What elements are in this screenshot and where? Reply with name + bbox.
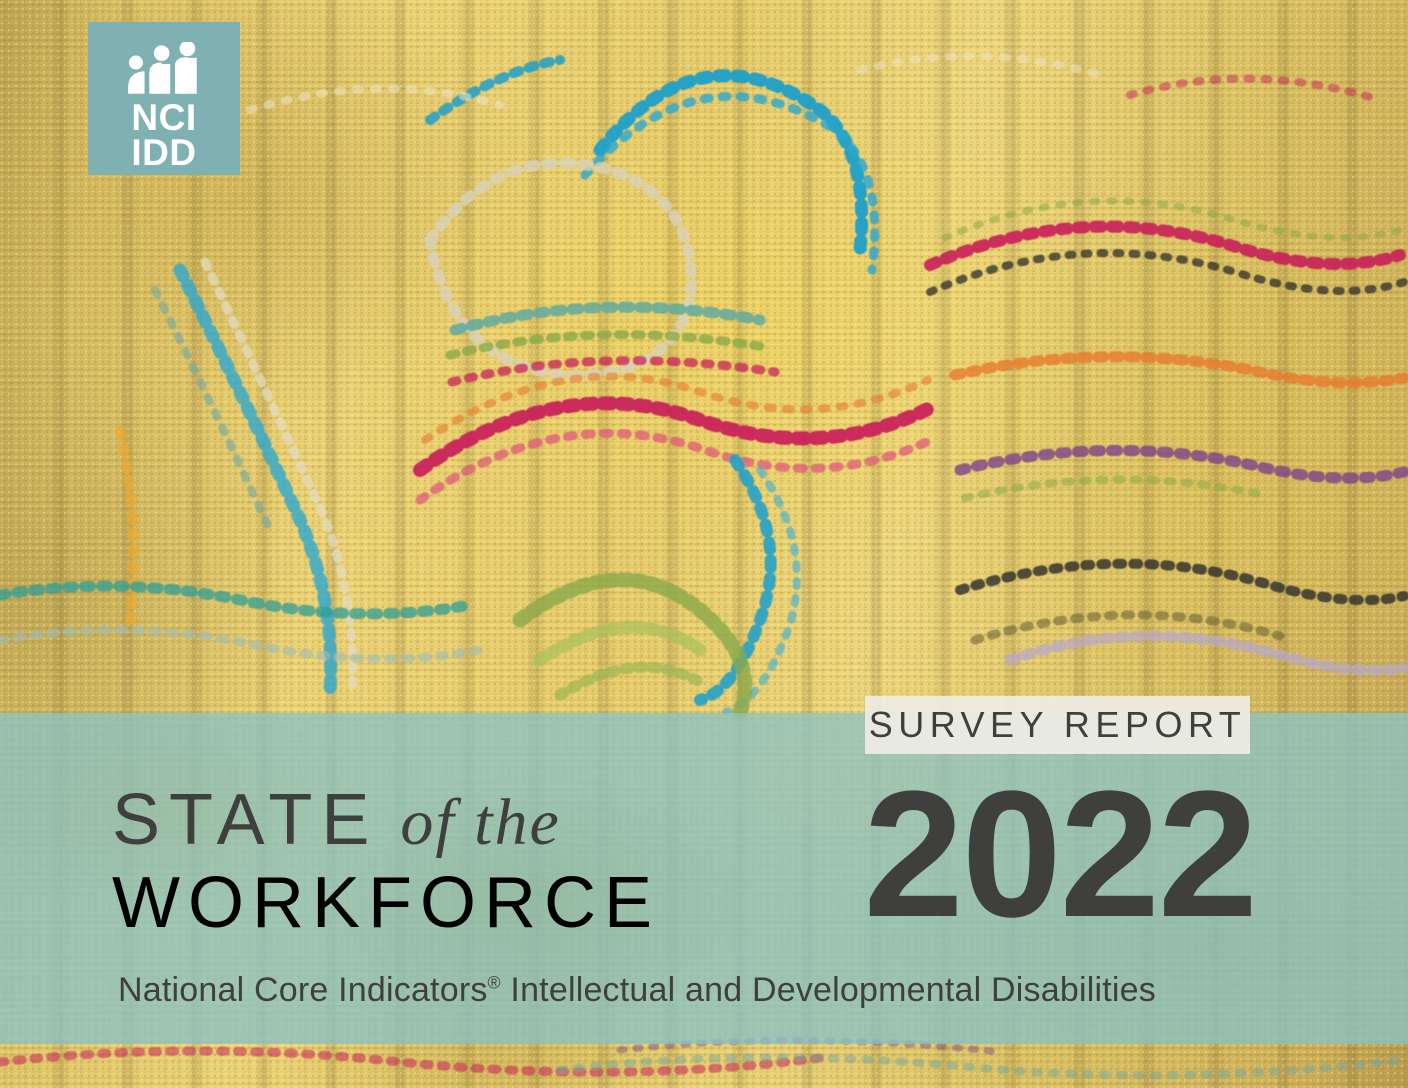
title-of-the-word: of the <box>400 786 560 859</box>
nci-idd-logo: NCI IDD <box>88 22 240 175</box>
title-block: STATEof the WORKFORCE 2022 National Core… <box>0 713 1408 1044</box>
title-state-word: STATE <box>112 780 378 860</box>
report-title: STATEof the WORKFORCE <box>112 785 792 944</box>
title-workforce-word: WORKFORCE <box>112 862 792 944</box>
subtitle-prefix: National Core Indicators <box>118 971 488 1009</box>
registered-trademark-symbol: ® <box>488 973 501 993</box>
survey-report-tag: SURVEY REPORT <box>865 696 1250 754</box>
logo-line-idd: IDD <box>131 135 196 170</box>
report-cover: NCI IDD SURVEY REPORT STATEof the WORKFO… <box>0 0 1408 1088</box>
logo-wordmark: NCI IDD <box>131 100 196 170</box>
subtitle-suffix: Intellectual and Developmental Disabilit… <box>501 971 1156 1009</box>
three-figures-growth-icon <box>125 42 203 94</box>
title-line-1: STATEof the <box>112 785 792 856</box>
survey-report-label: SURVEY REPORT <box>869 704 1247 746</box>
logo-line-nci: NCI <box>131 100 196 135</box>
report-year: 2022 <box>864 765 1256 945</box>
report-subtitle: National Core Indicators® Intellectual a… <box>118 971 1156 1010</box>
